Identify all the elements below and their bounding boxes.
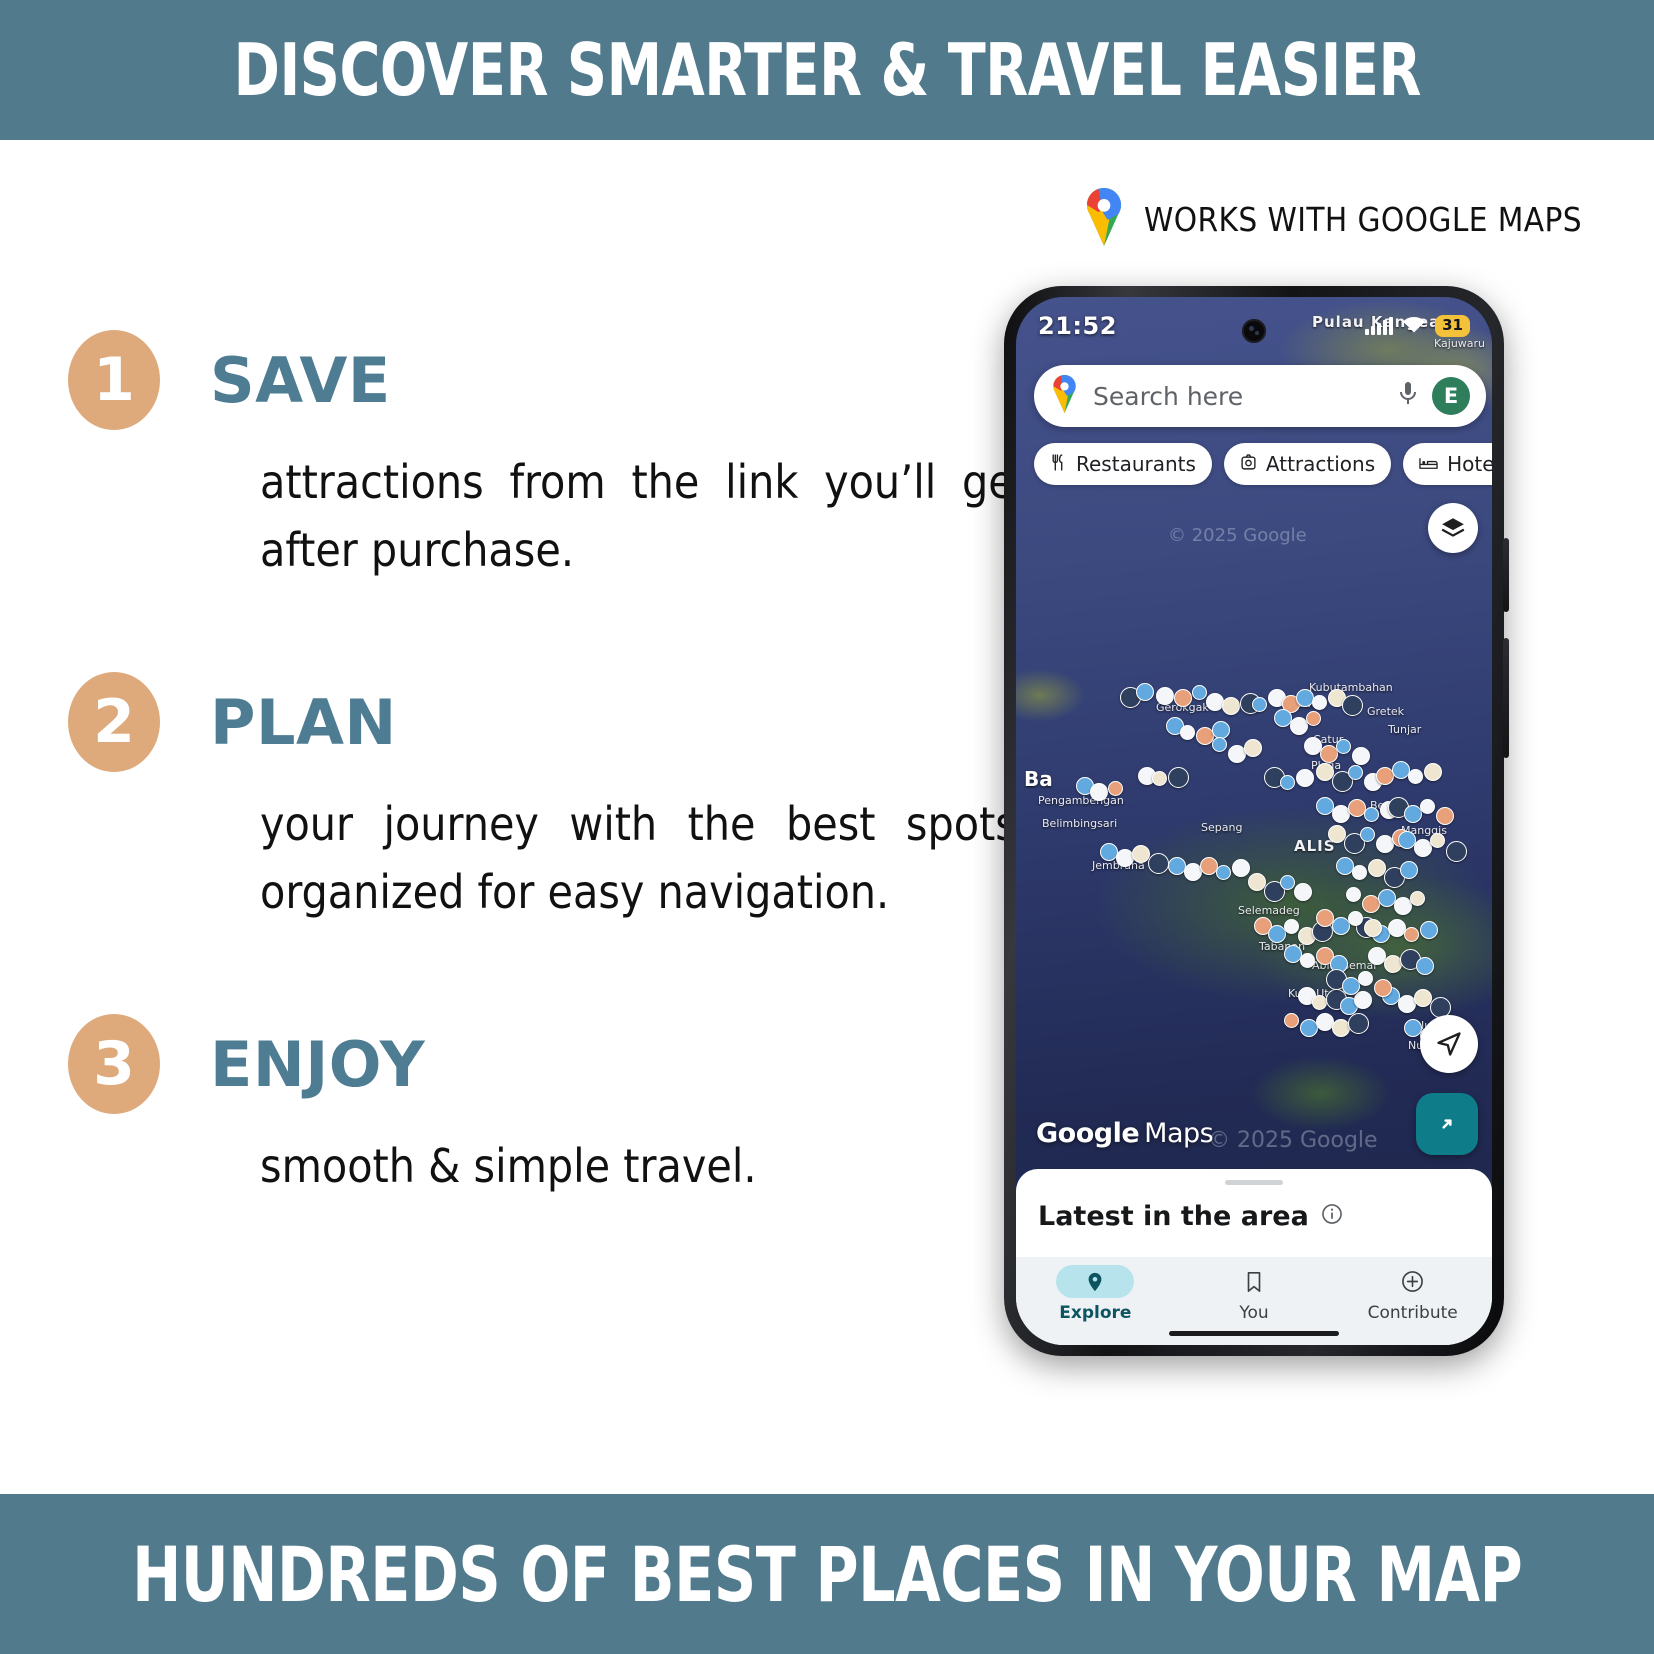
step-header: 1 SAVE: [60, 330, 1010, 430]
google-maps-pin-icon: [1082, 188, 1126, 251]
nav-pill: [1056, 1265, 1134, 1298]
map-marker[interactable]: [1416, 957, 1434, 975]
map-marker[interactable]: [1284, 919, 1299, 934]
map-marker[interactable]: [1232, 859, 1250, 877]
chip-label: Restaurants: [1076, 452, 1196, 476]
map-marker[interactable]: [1268, 689, 1286, 707]
map-marker[interactable]: [1298, 927, 1316, 945]
map-marker[interactable]: [1336, 739, 1351, 754]
layers-icon: [1440, 515, 1466, 541]
bottom-sheet[interactable]: Latest in the area Explore: [1016, 1169, 1492, 1345]
map-marker[interactable]: [1284, 945, 1302, 963]
map-marker[interactable]: [1430, 833, 1445, 848]
map-marker[interactable]: [1384, 867, 1405, 888]
map-marker[interactable]: [1312, 695, 1327, 710]
map-marker[interactable]: [1404, 927, 1419, 942]
sheet-title-row: Latest in the area: [1038, 1201, 1492, 1232]
map-marker[interactable]: [1100, 843, 1118, 861]
map-label: Ba: [1024, 767, 1053, 791]
map-marker[interactable]: [1216, 865, 1231, 880]
map-marker[interactable]: [1296, 769, 1314, 787]
map-marker[interactable]: [1364, 807, 1379, 822]
map-marker[interactable]: [1398, 831, 1416, 849]
avatar[interactable]: E: [1432, 377, 1470, 415]
nav-pill: [1374, 1265, 1452, 1298]
map-marker[interactable]: [1184, 863, 1202, 881]
map-marker[interactable]: [1400, 861, 1418, 879]
map-marker[interactable]: [1076, 777, 1094, 795]
microphone-icon[interactable]: [1396, 380, 1420, 413]
map-label: Gerokgak: [1156, 701, 1209, 714]
nav-item-explore[interactable]: Explore: [1016, 1265, 1175, 1323]
steps-list: 1 SAVE attractions from the link you’ll …: [60, 330, 1010, 1288]
map-marker[interactable]: [1362, 895, 1380, 913]
map-marker[interactable]: [1346, 887, 1361, 902]
map-marker[interactable]: [1368, 859, 1386, 877]
map-marker[interactable]: [1368, 947, 1386, 965]
works-with-label: WORKS WITH GOOGLE MAPS: [1144, 200, 1582, 239]
map-marker[interactable]: [1252, 697, 1267, 712]
map-marker[interactable]: [1404, 1019, 1422, 1037]
map-marker[interactable]: [1090, 783, 1108, 801]
map-marker[interactable]: [1274, 709, 1292, 727]
step-number-badge: 1: [68, 330, 160, 430]
map-marker[interactable]: [1280, 875, 1295, 890]
map-label: Kubutambahan: [1309, 681, 1393, 694]
map-marker[interactable]: [1152, 771, 1167, 786]
map-marker[interactable]: [1290, 717, 1308, 735]
step-body: attractions from the link you’ll get aft…: [260, 448, 1030, 584]
map-marker[interactable]: [1332, 771, 1353, 792]
map-marker[interactable]: [1348, 765, 1363, 780]
step-title: ENJOY: [210, 1028, 425, 1101]
map-marker[interactable]: [1166, 717, 1184, 735]
map-marker[interactable]: [1388, 797, 1409, 818]
battery-indicator: 31: [1435, 315, 1470, 336]
map-marker[interactable]: [1382, 987, 1400, 1005]
phone-mockup: Pulau Kangean Kajuwaru Ba Pengambengan B…: [1004, 286, 1504, 1356]
map-marker[interactable]: [1420, 799, 1435, 814]
map-marker[interactable]: [1420, 921, 1438, 939]
map-marker[interactable]: [1244, 739, 1262, 757]
map-marker[interactable]: [1316, 1013, 1334, 1031]
page-title: DISCOVER SMARTER & TRAVEL EASIER: [233, 28, 1420, 112]
map-marker[interactable]: [1296, 689, 1314, 707]
map-marker[interactable]: [1354, 991, 1372, 1009]
front-camera-icon: [1242, 319, 1266, 343]
works-with-google-maps: WORKS WITH GOOGLE MAPS: [1082, 188, 1582, 251]
map-marker[interactable]: [1342, 977, 1360, 995]
nav-label: Contribute: [1368, 1303, 1458, 1323]
map-label: Jembrana: [1092, 859, 1145, 872]
map-marker[interactable]: [1174, 689, 1192, 707]
map-marker[interactable]: [1148, 853, 1169, 874]
chip-restaurants[interactable]: Restaurants: [1034, 443, 1212, 485]
map-label: Sepang: [1201, 821, 1242, 834]
map-marker[interactable]: [1388, 919, 1406, 937]
map-marker[interactable]: [1352, 865, 1367, 880]
map-marker[interactable]: [1446, 841, 1467, 862]
google-maps-pin-icon: [1050, 375, 1079, 418]
map-marker[interactable]: [1414, 989, 1432, 1007]
map-label: Plaga: [1311, 759, 1341, 772]
google-maps-watermark: GoogleMaps: [1036, 1118, 1213, 1149]
wifi-icon: [1402, 315, 1426, 338]
map-marker[interactable]: [1392, 829, 1410, 847]
map-marker[interactable]: [1264, 767, 1285, 788]
layers-button[interactable]: [1428, 503, 1478, 553]
map-marker[interactable]: [1344, 833, 1365, 854]
watermark-maps: Maps: [1144, 1118, 1213, 1149]
map-marker[interactable]: [1180, 725, 1195, 740]
top-banner: DISCOVER SMARTER & TRAVEL EASIER: [0, 0, 1654, 140]
map-marker[interactable]: [1228, 745, 1246, 763]
cellular-signal-icon: [1365, 317, 1393, 335]
map-marker[interactable]: [1212, 721, 1230, 739]
map-label: Besaki: [1370, 799, 1406, 812]
map-marker[interactable]: [1414, 839, 1432, 857]
map-label: Manggis: [1401, 824, 1447, 837]
phone-side-button-volume[interactable]: [1503, 538, 1509, 612]
map-marker[interactable]: [1316, 947, 1334, 965]
step-body: smooth & simple travel.: [260, 1132, 1030, 1200]
map-marker[interactable]: [1312, 921, 1333, 942]
map-marker[interactable]: [1116, 849, 1134, 867]
map-marker[interactable]: [1340, 997, 1358, 1015]
map-marker[interactable]: [1280, 775, 1295, 790]
map-marker[interactable]: [1282, 695, 1300, 713]
status-clock: 21:52: [1038, 312, 1117, 340]
nav-item-contribute[interactable]: Contribute: [1333, 1265, 1492, 1323]
map-marker[interactable]: [1300, 953, 1315, 968]
map-label: ALIS: [1294, 837, 1336, 855]
map-pin-icon: [1084, 1271, 1106, 1293]
status-indicators: 31: [1365, 315, 1470, 338]
map-marker[interactable]: [1378, 889, 1396, 907]
map-label: Abiansemal: [1312, 959, 1376, 972]
map-marker[interactable]: [1326, 969, 1347, 990]
step-item-2: 2 PLAN your journey with the best spots,…: [60, 672, 1010, 926]
step-header: 3 ENJOY: [60, 1014, 1010, 1114]
map-marker[interactable]: [1306, 711, 1321, 726]
map-marker[interactable]: [1364, 773, 1382, 791]
map-label: Catur: [1313, 733, 1343, 746]
bottom-banner: HUNDREDS OF BEST PLACES IN YOUR MAP: [0, 1494, 1654, 1654]
map-label: Belimbingsari: [1042, 817, 1117, 830]
restaurant-icon: [1050, 452, 1067, 476]
map-marker[interactable]: [1300, 1019, 1318, 1037]
map-marker[interactable]: [1316, 763, 1334, 781]
map-marker[interactable]: [1240, 693, 1261, 714]
map-marker[interactable]: [1332, 1019, 1350, 1037]
map-label: Tabanan: [1259, 940, 1305, 953]
watermark-google: Google: [1036, 1118, 1139, 1149]
map-marker[interactable]: [1196, 727, 1214, 745]
map-marker[interactable]: [1168, 857, 1186, 875]
directions-button[interactable]: [1416, 1093, 1478, 1155]
map-marker[interactable]: [1360, 827, 1375, 842]
map-marker[interactable]: [1156, 687, 1174, 705]
map-marker[interactable]: [1212, 737, 1227, 752]
map-marker[interactable]: [1138, 767, 1156, 785]
map-marker[interactable]: [1200, 857, 1218, 875]
map-marker[interactable]: [1358, 971, 1373, 986]
nav-label: Explore: [1059, 1303, 1131, 1323]
chip-attractions[interactable]: Attractions: [1224, 443, 1391, 485]
map-marker[interactable]: [1328, 825, 1346, 843]
map-marker[interactable]: [1168, 767, 1189, 788]
bookmark-icon: [1244, 1271, 1264, 1293]
map-label: Pengambengan: [1038, 794, 1124, 807]
map-marker[interactable]: [1264, 881, 1285, 902]
map-marker[interactable]: [1342, 695, 1363, 716]
map-marker[interactable]: [1330, 955, 1348, 973]
map-marker[interactable]: [1332, 805, 1350, 823]
directions-arrow-icon: [1431, 1108, 1463, 1140]
map-marker[interactable]: [1326, 989, 1347, 1010]
map-marker[interactable]: [1424, 763, 1442, 781]
chip-label: Attractions: [1266, 452, 1375, 476]
map-marker[interactable]: [1248, 873, 1266, 891]
filter-chips: Restaurants Attractions Hotels Coff: [1034, 443, 1492, 485]
map-marker[interactable]: [1392, 761, 1410, 779]
map-marker[interactable]: [1108, 781, 1123, 796]
navigation-arrow-icon: [1435, 1030, 1463, 1058]
map-marker[interactable]: [1410, 891, 1425, 906]
locate-button[interactable]: [1420, 1015, 1478, 1073]
map-marker[interactable]: [1336, 857, 1354, 875]
map-marker[interactable]: [1372, 925, 1390, 943]
map-marker[interactable]: [1304, 737, 1322, 755]
step-number-badge: 3: [68, 1014, 160, 1114]
map-marker[interactable]: [1284, 1013, 1299, 1028]
map-marker[interactable]: [1294, 883, 1312, 901]
map-label: Kuta Utara: [1288, 987, 1347, 1000]
step-title: PLAN: [210, 686, 397, 759]
map-marker[interactable]: [1398, 995, 1416, 1013]
chip-hotels[interactable]: Hotels: [1403, 443, 1492, 485]
status-bar: 21:52 31: [1016, 297, 1492, 355]
home-indicator: [1169, 1331, 1339, 1336]
attractions-icon: [1240, 452, 1257, 476]
map-marker[interactable]: [1404, 805, 1422, 823]
map-marker[interactable]: [1206, 693, 1224, 711]
map-label: Selemadeg: [1238, 904, 1300, 917]
map-label: Sawan: [1289, 697, 1325, 710]
phone-side-button-power[interactable]: [1503, 638, 1509, 758]
map-marker[interactable]: [1380, 801, 1398, 819]
map-marker[interactable]: [1384, 955, 1402, 973]
nav-label: You: [1239, 1303, 1268, 1323]
map-marker[interactable]: [1348, 1013, 1369, 1034]
map-marker[interactable]: [1356, 917, 1377, 938]
step-body: your journey with the best spots, organi…: [260, 790, 1030, 926]
map-marker[interactable]: [1132, 845, 1150, 863]
map-marker[interactable]: [1408, 769, 1423, 784]
map-label: Gretek: [1367, 705, 1404, 718]
step-item-1: 1 SAVE attractions from the link you’ll …: [60, 330, 1010, 584]
map-marker[interactable]: [1374, 979, 1392, 997]
phone-screen: Pulau Kangean Kajuwaru Ba Pengambengan B…: [1016, 297, 1492, 1345]
footer-title: HUNDREDS OF BEST PLACES IN YOUR MAP: [132, 1530, 1522, 1619]
search-input[interactable]: Search here: [1093, 382, 1396, 411]
map-marker[interactable]: [1352, 747, 1370, 765]
step-item-3: 3 ENJOY smooth & simple travel.: [60, 1014, 1010, 1200]
map-marker[interactable]: [1254, 917, 1272, 935]
map-marker[interactable]: [1320, 745, 1338, 763]
search-bar[interactable]: Search here E: [1034, 365, 1486, 427]
map-marker[interactable]: [1364, 919, 1382, 937]
map-marker[interactable]: [1298, 987, 1316, 1005]
map-marker[interactable]: [1376, 767, 1394, 785]
map-marker[interactable]: [1192, 685, 1207, 700]
plus-circle-icon: [1401, 1270, 1424, 1293]
step-number-badge: 2: [68, 672, 160, 772]
map-marker[interactable]: [1436, 807, 1454, 825]
map-attribution: © 2025 Google: [1208, 1128, 1378, 1153]
map-marker[interactable]: [1400, 949, 1421, 970]
map-marker[interactable]: [1312, 995, 1327, 1010]
map-label: Tunjar: [1388, 723, 1421, 736]
map-marker[interactable]: [1332, 917, 1350, 935]
map-marker[interactable]: [1268, 925, 1286, 943]
map-marker[interactable]: [1348, 799, 1366, 817]
sheet-grabber[interactable]: [1225, 1180, 1283, 1185]
chip-label: Hotels: [1447, 452, 1492, 476]
map-marker[interactable]: [1328, 689, 1346, 707]
map-marker[interactable]: [1120, 687, 1141, 708]
map-attribution: © 2025 Google: [1168, 525, 1307, 546]
map-marker[interactable]: [1376, 835, 1394, 853]
info-circle-icon[interactable]: [1321, 1201, 1343, 1232]
map-marker[interactable]: [1394, 897, 1412, 915]
step-title: SAVE: [210, 344, 391, 417]
nav-pill: [1215, 1265, 1293, 1298]
map-marker[interactable]: [1316, 909, 1334, 927]
map-marker[interactable]: [1316, 797, 1334, 815]
step-header: 2 PLAN: [60, 672, 1010, 772]
nav-item-you[interactable]: You: [1175, 1265, 1334, 1323]
map-marker[interactable]: [1348, 911, 1363, 926]
map-marker[interactable]: [1136, 683, 1154, 701]
sheet-title: Latest in the area: [1038, 1201, 1309, 1232]
hotel-bed-icon: [1419, 452, 1438, 476]
map-marker[interactable]: [1222, 697, 1240, 715]
